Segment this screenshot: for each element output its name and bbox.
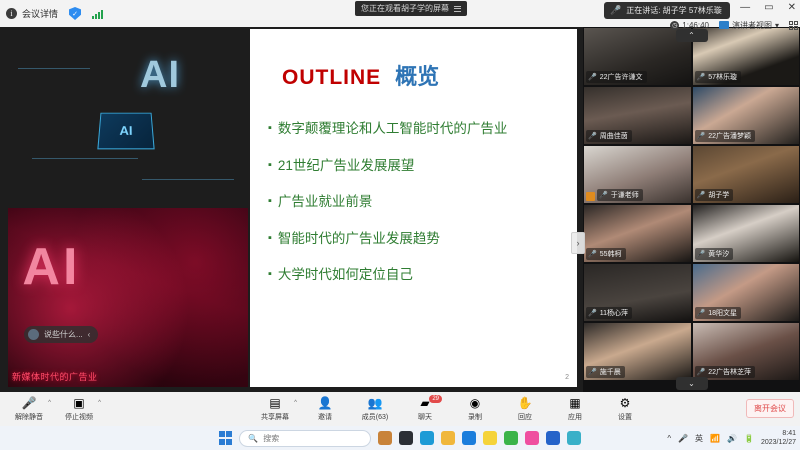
participant-name-tag: 🎤57林乐璇	[695, 71, 742, 83]
shield-check-icon[interactable]: ✓	[69, 7, 81, 20]
participant-name: 胡子学	[708, 190, 729, 200]
participant-tile[interactable]: 🎤22广告潘梦颖	[693, 87, 800, 144]
system-tray: ^ 🎤 英 📶 🔊 🔋 8:41 2023/12/27	[667, 426, 796, 450]
bullet-marker-icon: ▪	[268, 119, 272, 139]
microphone-icon: 🎤	[697, 192, 706, 199]
microphone-icon: 🎤	[697, 74, 706, 81]
tool-label: 聊天	[418, 412, 432, 422]
slide-bullet-list: ▪数字颠覆理论和人工智能时代的广告业▪21世纪广告业发展展望▪广告业就业前景▪智…	[268, 119, 565, 302]
windows-taskbar: 🔍 搜索 ^ 🎤 英 📶 🔊 🔋 8:41 2023/12/27	[0, 426, 800, 450]
toolbar-left-group: 🎤解除静音^▣停止视频^	[0, 397, 100, 422]
slide-photo-column: AI AI 新媒体时代的广告业 说些什么... ‹	[8, 29, 248, 387]
unread-badge: 29	[429, 395, 442, 403]
bullet-marker-icon: ▪	[268, 156, 272, 176]
teal-app-icon[interactable]	[567, 431, 581, 445]
maximize-button[interactable]: ▭	[764, 2, 773, 13]
minimize-button[interactable]: —	[740, 2, 750, 13]
slide-bullet-text: 数字颠覆理论和人工智能时代的广告业	[278, 119, 508, 139]
signal-strength-icon[interactable]	[92, 9, 103, 19]
participant-name-tag: 🎤胡子学	[695, 189, 734, 201]
chevron-down-icon[interactable]: ⌄	[676, 377, 708, 390]
folder-icon[interactable]	[441, 431, 455, 445]
microphone-muted-icon: 🎤	[588, 251, 597, 258]
chat-icon: ▰	[420, 397, 429, 411]
tool-label: 设置	[618, 412, 632, 422]
participant-tile[interactable]: 🎤57林乐璇	[693, 28, 800, 85]
chevron-left-icon[interactable]: ‹	[88, 330, 91, 339]
participant-name: 57林乐璇	[708, 72, 737, 82]
participant-name: 22广告林芝萍	[708, 367, 751, 377]
tool-label: 解除静音	[15, 412, 43, 422]
microphone-muted-icon: 🎤	[22, 397, 37, 411]
participant-name: 18阳文星	[708, 308, 737, 318]
zoom-meeting-window: i 会议详情 ✓ 您正在观看胡子学的屏幕 🎤 正在讲话: 胡子学 57林乐璇 —…	[0, 0, 800, 450]
ai-photo-overlay-text: AI	[140, 54, 180, 97]
slide-bullet-text: 广告业就业前景	[278, 192, 373, 212]
reaction-icon: ✋	[518, 397, 533, 411]
ai-chip-photo: AI	[8, 29, 248, 208]
wifi-icon[interactable]: 📶	[710, 434, 720, 443]
chevron-up-icon[interactable]: ^	[98, 400, 101, 406]
chevron-up-icon[interactable]: ^	[294, 400, 297, 406]
bullet-marker-icon: ▪	[268, 265, 272, 285]
settings-button[interactable]: ⚙设置	[604, 397, 646, 422]
clock-icon: ◷	[670, 21, 679, 30]
ai-red-overlay-text: AI	[22, 237, 80, 297]
microphone-muted-icon: 🎤	[599, 192, 608, 199]
meeting-sub-bar: ◷ 1:46:40 演讲者视图 ▾	[670, 18, 798, 32]
participant-name: 周曲佳茵	[600, 131, 628, 141]
microphone-muted-icon: 🎤	[697, 251, 706, 258]
meeting-toolbar: 🎤解除静音^▣停止视频^ ▤共享屏幕^👤邀请👥成员(63)▰聊天29◉录制✋回应…	[0, 392, 800, 426]
volume-icon[interactable]: 🔊	[727, 434, 737, 443]
avatar	[28, 329, 39, 340]
participant-name: 22广告许谦文	[600, 72, 643, 82]
chat-input[interactable]: 说些什么...	[44, 329, 83, 340]
slide-title: OUTLINE 概览	[282, 59, 439, 91]
slide-bullet-text: 智能时代的广告业发展趋势	[278, 229, 440, 249]
battery-icon[interactable]: 🔋	[744, 434, 754, 443]
elapsed-time-label: 1:46:40	[682, 21, 709, 30]
shared-screen-stage: AI AI 新媒体时代的广告业 说些什么... ‹ OUTLINE 概览 ▪数字…	[0, 27, 583, 392]
participant-name-tag: 🎤11杨心萍	[586, 307, 632, 319]
participant-tile[interactable]: 🎤55韩柯	[584, 205, 691, 262]
widgets-icon[interactable]	[378, 431, 392, 445]
microphone-muted-icon: 🎤	[697, 133, 706, 140]
participant-name: 22广告潘梦颖	[708, 131, 751, 141]
record-button[interactable]: ◉录制	[454, 397, 496, 422]
chip-graphic	[98, 113, 155, 150]
participant-tile[interactable]: 🎤于谦老师	[584, 146, 691, 203]
microphone-muted-button[interactable]: 🎤解除静音^	[8, 397, 50, 422]
microphone-muted-icon: 🎤	[588, 74, 597, 81]
participant-tile[interactable]: 🎤胡子学	[693, 146, 800, 203]
apps-button[interactable]: ▦应用	[554, 397, 596, 422]
slide-bullet: ▪大学时代如何定位自己	[268, 265, 565, 285]
tool-label: 录制	[468, 412, 482, 422]
microphone-muted-icon: 🎤	[697, 369, 706, 376]
participant-name-tag: 🎤黄华汐	[695, 248, 734, 260]
participant-tile[interactable]: 🎤黄华汐	[693, 205, 800, 262]
slide-bullet: ▪21世纪广告业发展展望	[268, 156, 565, 176]
windows-start-icon[interactable]	[219, 431, 233, 445]
settings-icon: ⚙	[620, 397, 631, 411]
close-button[interactable]: ✕	[788, 2, 796, 13]
participant-tile[interactable]: 🎤22广告林芝萍	[693, 323, 800, 380]
camera-icon: ▣	[73, 397, 84, 411]
app-yellow-icon[interactable]	[483, 431, 497, 445]
tool-label: 应用	[568, 412, 582, 422]
slide-title-english: OUTLINE	[282, 66, 381, 90]
tray-overflow-icon[interactable]: ^	[667, 434, 671, 443]
apps-icon: ▦	[569, 397, 580, 411]
pink-app-icon[interactable]	[525, 431, 539, 445]
share-screen-icon: ▤	[269, 397, 280, 411]
invite-button[interactable]: 👤邀请	[304, 397, 346, 422]
explorer-icon[interactable]	[399, 431, 413, 445]
bullet-marker-icon: ▪	[268, 192, 272, 212]
toolbar-center-group: ▤共享屏幕^👤邀请👥成员(63)▰聊天29◉录制✋回应▦应用⚙设置	[254, 397, 646, 422]
participant-tile[interactable]: 🎤周曲佳茵	[584, 87, 691, 144]
participant-name-tag: 🎤周曲佳茵	[586, 130, 632, 142]
participant-name: 于谦老师	[611, 190, 639, 200]
active-speaker-label: 正在讲话: 胡子学 57林乐璇	[626, 5, 722, 16]
participant-name: 55韩柯	[600, 249, 622, 259]
clock-time: 8:41	[782, 429, 796, 438]
wechat-icon[interactable]	[504, 431, 518, 445]
invite-icon: 👤	[318, 397, 333, 411]
participant-grid: ⌃ 🎤22广告许谦文🎤57林乐璇🎤周曲佳茵🎤22广告潘梦颖🎤于谦老师🎤胡子学🎤5…	[583, 27, 800, 392]
participant-name-tag: 🎤22广告潘梦颖	[695, 130, 756, 142]
participant-name: 11杨心萍	[600, 308, 628, 318]
leave-meeting-button[interactable]: 离开会议	[746, 399, 794, 418]
view-mode-selector[interactable]: 演讲者视图 ▾	[719, 20, 779, 31]
microphone-icon: 🎤	[610, 6, 621, 15]
sharing-notice-pill[interactable]: 您正在观看胡子学的屏幕	[355, 1, 467, 16]
participant-name-tag: 🎤施千晨	[586, 366, 625, 378]
chat-input-bubble[interactable]: 说些什么... ‹	[24, 326, 98, 343]
microphone-muted-icon: 🎤	[588, 369, 597, 376]
fullscreen-icon[interactable]	[789, 21, 798, 30]
microphone-icon[interactable]: 🎤	[678, 434, 688, 443]
participant-name-tag: 🎤22广告许谦文	[586, 71, 647, 83]
edge-icon[interactable]	[420, 431, 434, 445]
elapsed-time-chip: ◷ 1:46:40	[670, 21, 709, 30]
speaker-view-icon	[719, 21, 729, 29]
search-placeholder: 搜索	[263, 433, 279, 444]
participant-name: 黄华汐	[708, 249, 729, 259]
participants-icon: 👥	[368, 397, 383, 411]
search-icon: 🔍	[248, 434, 258, 443]
tool-label: 邀请	[318, 412, 332, 422]
participant-name-tag: 🎤于谦老师	[597, 189, 643, 201]
participants-button[interactable]: 👥成员(63)	[354, 397, 396, 422]
blue-app-icon[interactable]	[546, 431, 560, 445]
participant-name-tag: 🎤55韩柯	[586, 248, 626, 260]
slide-bullet-text: 21世纪广告业发展展望	[278, 156, 415, 176]
window-controls[interactable]: — ▭ ✕	[740, 2, 796, 13]
view-mode-label: 演讲者视图	[732, 20, 772, 31]
participant-name-tag: 🎤18阳文星	[695, 307, 742, 319]
slide-bullet-text: 大学时代如何定位自己	[278, 265, 413, 285]
photo-caption: 新媒体时代的广告业	[12, 370, 98, 383]
meeting-details-group[interactable]: i 会议详情 ✓	[0, 7, 103, 20]
search-input[interactable]: 🔍 搜索	[239, 430, 371, 447]
share-screen-button[interactable]: ▤共享屏幕^	[254, 397, 296, 422]
tool-label: 共享屏幕	[261, 412, 289, 422]
reaction-button[interactable]: ✋回应	[504, 397, 546, 422]
clock-date: 2023/12/27	[761, 438, 796, 447]
participant-name: 施千晨	[600, 367, 621, 377]
taskbar-clock[interactable]: 8:41 2023/12/27	[761, 429, 796, 447]
tool-label: 停止视频	[65, 412, 93, 422]
record-icon: ◉	[470, 397, 480, 411]
participant-tile[interactable]: 🎤11杨心萍	[584, 264, 691, 321]
ai-circuit-red-photo: AI 新媒体时代的广告业	[8, 208, 248, 387]
chat-button[interactable]: ▰聊天29	[404, 397, 446, 422]
presentation-slide: OUTLINE 概览 ▪数字颠覆理论和人工智能时代的广告业▪21世纪广告业发展展…	[250, 29, 577, 387]
meeting-details-label: 会议详情	[22, 7, 58, 20]
slide-title-chinese: 概览	[395, 59, 439, 91]
sharing-notice-label: 您正在观看胡子学的屏幕	[361, 3, 449, 14]
taskbar-center-group: 🔍 搜索	[219, 430, 582, 447]
host-badge	[586, 192, 595, 201]
tool-label: 成员(63)	[362, 412, 388, 422]
participant-tile[interactable]: 🎤18阳文星	[693, 264, 800, 321]
ime-indicator[interactable]: 英	[695, 433, 703, 444]
microphone-muted-icon: 🎤	[588, 133, 597, 140]
chevron-up-icon[interactable]: ^	[48, 400, 51, 406]
info-icon[interactable]: i	[6, 8, 17, 19]
microphone-muted-icon: 🎤	[697, 310, 706, 317]
participant-tile[interactable]: 🎤施千晨	[584, 323, 691, 380]
drive-icon[interactable]	[462, 431, 476, 445]
chevron-down-icon[interactable]: ▾	[775, 21, 779, 30]
active-speaker-pill: 🎤 正在讲话: 胡子学 57林乐璇	[604, 2, 730, 19]
slide-bullet: ▪数字颠覆理论和人工智能时代的广告业	[268, 119, 565, 139]
slide-bullet: ▪广告业就业前景	[268, 192, 565, 212]
microphone-muted-icon: 🎤	[588, 310, 597, 317]
camera-button[interactable]: ▣停止视频^	[58, 397, 100, 422]
bullet-marker-icon: ▪	[268, 229, 272, 249]
menu-icon[interactable]	[454, 6, 461, 12]
next-slide-button[interactable]: ›	[571, 232, 585, 254]
slide-page-number: 2	[565, 374, 569, 381]
slide-bullet: ▪智能时代的广告业发展趋势	[268, 229, 565, 249]
tool-label: 回应	[518, 412, 532, 422]
